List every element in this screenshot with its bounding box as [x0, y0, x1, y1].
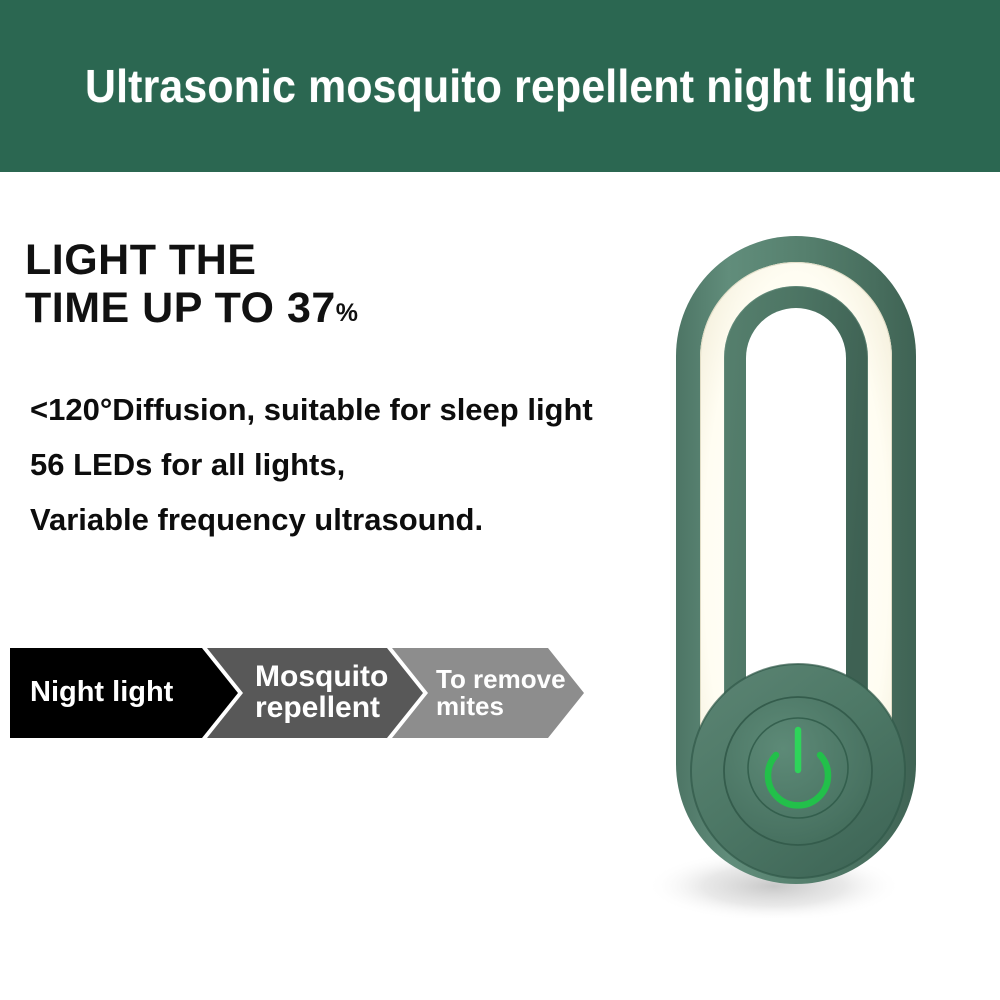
feature-line-ultrasound: Variable frequency ultrasound. [30, 492, 650, 547]
headline-line-1: LIGHT THE [25, 236, 545, 284]
product-infographic-page: Ultrasonic mosquito repellent night ligh… [0, 0, 1000, 1000]
page-title: Ultrasonic mosquito repellent night ligh… [35, 0, 965, 172]
feature-line-leds: 56 LEDs for all lights, [30, 437, 650, 492]
product-image [648, 228, 948, 918]
chevron-night-light-label: Night light [30, 678, 173, 708]
mode-chevron-banner: Night light Mosquito repellent To remove… [10, 648, 590, 738]
headline-line-2-text: TIME UP TO 37 [25, 284, 336, 332]
headline-line-2: TIME UP TO 37% [25, 284, 545, 338]
chevron-mosquito-repellent[interactable]: Mosquito repellent [207, 648, 423, 738]
headline-block: LIGHT THE TIME UP TO 37% [25, 236, 545, 338]
chevron-night-light[interactable]: Night light [10, 648, 238, 738]
percent-symbol: % [336, 299, 358, 327]
feature-list: <120°Diffusion, suitable for sleep light… [30, 382, 650, 547]
header-band: Ultrasonic mosquito repellent night ligh… [0, 0, 1000, 172]
chevron-mosquito-repellent-label: Mosquito repellent [255, 662, 388, 723]
chevron-remove-mites-label: To remove mites [436, 666, 566, 719]
feature-line-diffusion: <120°Diffusion, suitable for sleep light [30, 382, 650, 437]
